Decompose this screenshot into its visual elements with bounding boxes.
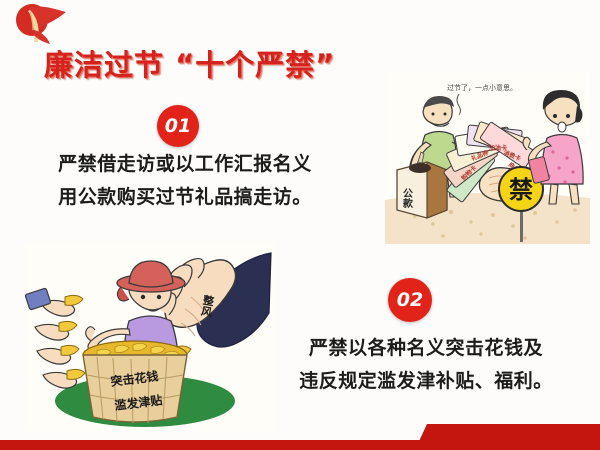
money-basket: 突击花钱 滥发津贴 [83, 341, 187, 423]
illustration-rush-spending: 整风 [25, 243, 275, 431]
item-text-02: 严禁以各种名义突击花钱及 违反规定滥发津补贴、福利。 [258, 332, 594, 398]
item-number-badge-02: 02 [388, 278, 432, 322]
ban-sign-label: 禁 [509, 176, 533, 204]
item-number-badge-01: 01 [157, 105, 199, 147]
footer-wedge [415, 424, 600, 450]
speech-caption: 过节了，一点小意思。 [447, 83, 517, 92]
item-02-line-2: 违反规定滥发津补贴、福利。 [258, 365, 594, 398]
item-02-line-1: 严禁以各种名义突击花钱及 [258, 332, 594, 365]
red-flag-emblem-icon [8, 2, 74, 46]
slide-canvas: 廉洁过节 “十个严禁” 01 严禁借走访或以工作汇报名义 用公款购买过节礼品搞走… [0, 0, 600, 450]
item-text-01: 严禁借走访或以工作汇报名义 用公款购买过节礼品搞走访。 [20, 148, 350, 214]
item-01-line-2: 用公款购买过节礼品搞走访。 [20, 181, 350, 214]
item-01-line-1: 严禁借走访或以工作汇报名义 [20, 148, 350, 181]
page-title: 廉洁过节 “十个严禁” [44, 42, 335, 84]
illustration-gift-card-bribery: 过节了，一点小意思。 [385, 72, 590, 244]
public-funds-label: 公款 [401, 188, 413, 209]
